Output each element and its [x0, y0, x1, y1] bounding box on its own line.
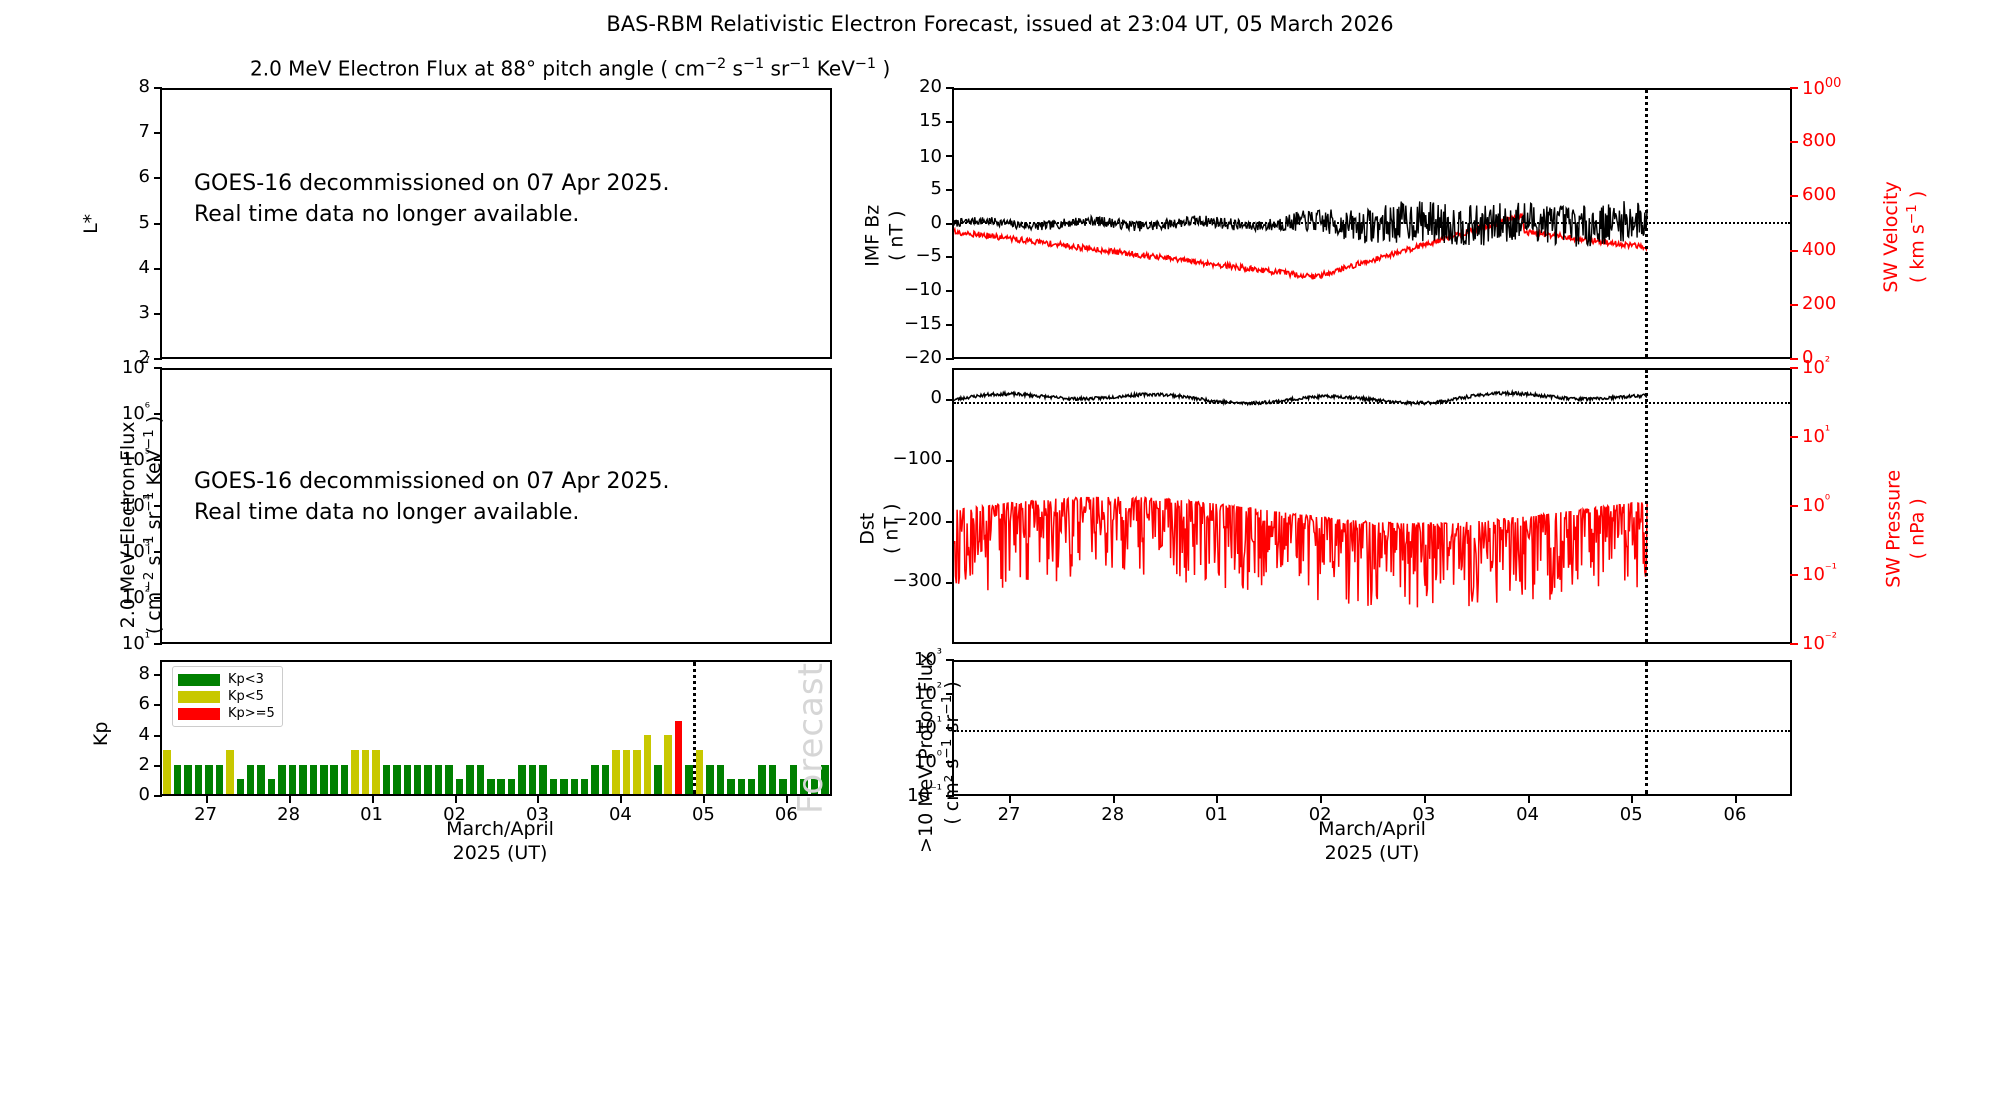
axis-tick-label: 20 [919, 76, 942, 97]
kp-bar [216, 765, 224, 794]
proton-x-label-line2: 2025 (UT) [1325, 842, 1420, 864]
axis-tick [946, 290, 954, 292]
kp-x-axis-label: March/April2025 (UT) [340, 818, 660, 866]
kp-legend-item: Kp>=5 [178, 705, 275, 722]
axis-tick [1790, 358, 1798, 360]
kp-bar [675, 721, 683, 794]
axis-tick [1790, 505, 1798, 507]
panel-lstar-plot-area: GOES-16 decommissioned on 07 Apr 2025.Re… [162, 90, 830, 357]
axis-tick [703, 795, 705, 803]
kp-legend-item: Kp<5 [178, 688, 275, 705]
kp-bar [477, 765, 485, 794]
axis-tick [455, 795, 457, 803]
sw-velocity-y-axis-label: SW Velocity( km s−1 ) [1880, 137, 1930, 337]
kp-bar [602, 765, 610, 794]
axis-tick-label: 800 [1802, 130, 1836, 151]
kp-bar [278, 765, 286, 794]
axis-tick [946, 256, 954, 258]
axis-tick-label: 5 [931, 178, 942, 199]
kp-bar [685, 765, 693, 794]
axis-tick [946, 521, 954, 523]
axis-tick [946, 121, 954, 123]
proton-threshold-line [954, 730, 1790, 732]
kp-legend-label: Kp<5 [228, 689, 264, 704]
dst-forecast-divider [1645, 370, 1648, 642]
kp-bar [237, 779, 245, 794]
panel-dst-sw-pressure [952, 368, 1792, 644]
dst-y-axis-label: Dst( nT ) [856, 439, 904, 619]
kp-bar [330, 765, 338, 794]
subtitle-mid: pitch angle ( cm [536, 57, 705, 81]
kp-bar [435, 765, 443, 794]
axis-tick [946, 155, 954, 157]
axis-tick-label: 05 [1620, 804, 1643, 825]
axis-tick [154, 177, 162, 179]
axis-tick [946, 189, 954, 191]
kp-bar [633, 750, 641, 794]
axis-tick [1790, 304, 1798, 306]
kp-bar [424, 765, 432, 794]
proton-flux-y-axis-label: >10 MeV Proton Flux( cm² s−1 sr−1 ) [915, 603, 965, 903]
axis-tick-label: 200 [1802, 293, 1836, 314]
kp-bar [612, 750, 620, 794]
axis-tick [946, 223, 954, 225]
kp-bar [696, 750, 704, 794]
kp-bar [404, 765, 412, 794]
kp-bar [623, 750, 631, 794]
kp-bar [174, 765, 182, 794]
axis-tick [1790, 250, 1798, 252]
flux-decommission-message: GOES-16 decommissioned on 07 Apr 2025.Re… [194, 466, 670, 528]
kp-bar [163, 750, 171, 794]
kp-bar [644, 735, 652, 794]
axis-tick [1735, 795, 1737, 803]
proton-y-label-line1: >10 MeV Proton Flux [915, 653, 937, 853]
axis-tick-label: 27 [194, 804, 217, 825]
page-title: BAS-RBM Relativistic Electron Forecast, … [0, 12, 2000, 36]
kp-bar [289, 765, 297, 794]
axis-tick [154, 268, 162, 270]
axis-tick [154, 704, 162, 706]
subtitle-kev: KeV [810, 57, 854, 81]
axis-tick [154, 132, 162, 134]
lstar-decommission-message: GOES-16 decommissioned on 07 Apr 2025.Re… [194, 168, 670, 230]
axis-tick-label: 28 [277, 804, 300, 825]
axis-tick [1113, 795, 1115, 803]
subtitle-sr: sr [764, 57, 789, 81]
imf-zero-line [954, 222, 1790, 224]
kp-bar [414, 765, 422, 794]
kp-legend-label: Kp<3 [228, 672, 264, 687]
axis-tick [154, 223, 162, 225]
kp-bar [654, 765, 662, 794]
axis-tick-label: 10 [919, 144, 942, 167]
kp-bar [664, 735, 672, 794]
lstar-decommission-line1: GOES-16 decommissioned on 07 Apr 2025. [194, 171, 670, 196]
axis-tick [154, 735, 162, 737]
lstar-y-axis-label: L* [80, 194, 104, 254]
axis-tick-label: 0 [931, 212, 942, 233]
axis-tick [1790, 141, 1798, 143]
kp-bar [487, 779, 495, 794]
sw-pressure-y-axis-label: SW Pressure( nPa ) [1882, 429, 1930, 629]
kp-bar [257, 765, 265, 794]
subtitle-exp-1: −2 [705, 56, 726, 72]
kp-bar [383, 765, 391, 794]
axis-tick [946, 87, 954, 89]
axis-tick-label: 7 [139, 121, 150, 142]
axis-tick-label: 4 [139, 257, 150, 278]
kp-bar [539, 765, 547, 794]
kp-bar [226, 750, 234, 794]
axis-tick [1424, 795, 1426, 803]
flux-map-subtitle: 2.0 MeV Electron Flux at 88° pitch angle… [250, 56, 890, 81]
axis-tick-label: 6 [139, 693, 150, 714]
axis-tick [1790, 87, 1798, 89]
kp-bar [738, 779, 746, 794]
flux-decommission-line2: Real time data no longer available. [194, 500, 579, 525]
axis-tick-label: 05 [692, 804, 715, 825]
kp-legend-label: Kp>=5 [228, 706, 275, 721]
subtitle-prefix: 2.0 MeV Electron Flux at 88 [250, 57, 526, 81]
imf-plot-area [954, 90, 1790, 357]
axis-tick [154, 674, 162, 676]
axis-tick-label: 1000 [1802, 76, 1841, 99]
axis-tick-label: 6 [139, 166, 150, 187]
proton-forecast-divider [1645, 662, 1648, 794]
dst-plot-area [954, 370, 1790, 642]
degree-symbol: ° [526, 57, 536, 81]
forecast-watermark: Forecast [791, 662, 831, 814]
axis-tick [946, 582, 954, 584]
axis-tick [1009, 795, 1011, 803]
axis-tick-label: −10 [904, 279, 942, 300]
kp-x-label-line1: March/April [446, 818, 554, 840]
electron-flux-plot-area: GOES-16 decommissioned on 07 Apr 2025.Re… [162, 370, 830, 642]
flux-decommission-line1: GOES-16 decommissioned on 07 Apr 2025. [194, 469, 670, 494]
kp-bar [195, 765, 203, 794]
axis-tick [154, 358, 162, 360]
kp-bar [351, 750, 359, 794]
axis-tick [1790, 574, 1798, 576]
axis-tick [537, 795, 539, 803]
axis-tick-label: −20 [904, 347, 942, 368]
subtitle-exp-2: −1 [743, 56, 764, 72]
axis-tick-label: 10¹ [1802, 424, 1830, 447]
axis-tick-label: 3 [139, 302, 150, 323]
axis-tick [946, 324, 954, 326]
kp-bar [591, 765, 599, 794]
axis-tick-label: 10² [1802, 355, 1830, 378]
axis-tick-label: 15 [919, 110, 942, 131]
kp-legend-swatch [178, 691, 220, 703]
axis-tick-label: 400 [1802, 239, 1836, 260]
axis-tick-label: −15 [904, 313, 942, 334]
kp-bar [456, 779, 464, 794]
subtitle-exp-3: −1 [789, 56, 810, 72]
subtitle-s: s [726, 57, 743, 81]
axis-tick [786, 795, 788, 803]
kp-legend-swatch [178, 708, 220, 720]
kp-bar [581, 779, 589, 794]
kp-bar [518, 765, 526, 794]
kp-bar [299, 765, 307, 794]
electron-flux-y-axis-label: 2.0 MeV Electron Flux( cm−2 s−1 sr−1 KeV… [117, 375, 167, 675]
forecast-dashboard: BAS-RBM Relativistic Electron Forecast, … [0, 0, 2000, 1100]
kp-bar [769, 765, 777, 794]
imf-forecast-divider [1645, 90, 1648, 357]
kp-bar [362, 750, 370, 794]
axis-tick [154, 313, 162, 315]
kp-bar [497, 779, 505, 794]
kp-bar [205, 765, 213, 794]
axis-tick [154, 87, 162, 89]
axis-tick [946, 460, 954, 462]
axis-tick [154, 367, 162, 369]
axis-tick [372, 795, 374, 803]
imf-bz-y-axis-label: IMF Bz( nT ) [861, 146, 909, 326]
proton-x-axis-label: March/April2025 (UT) [1212, 818, 1532, 866]
kp-bar [748, 779, 756, 794]
axis-tick-label: 8 [139, 76, 150, 97]
axis-tick [1528, 795, 1530, 803]
axis-tick-label: 10⁻² [1802, 631, 1837, 654]
kp-legend-item: Kp<3 [178, 671, 275, 688]
axis-tick [206, 795, 208, 803]
kp-bar [445, 765, 453, 794]
axis-tick-label: 8 [139, 663, 150, 684]
axis-tick [620, 795, 622, 803]
proton-y-label-line2: ( cm² s−1 sr−1 ) [941, 681, 963, 824]
kp-legend: Kp<3Kp<5Kp>=5 [172, 666, 283, 727]
kp-forecast-divider [693, 662, 696, 794]
kp-bar [393, 765, 401, 794]
axis-tick-label: 28 [1101, 804, 1124, 825]
kp-bar [717, 765, 725, 794]
axis-tick-label: −5 [915, 245, 942, 266]
panel-lstar-flux-map: GOES-16 decommissioned on 07 Apr 2025.Re… [160, 88, 832, 359]
axis-tick [946, 399, 954, 401]
kp-bar [571, 779, 579, 794]
lstar-decommission-line2: Real time data no longer available. [194, 202, 579, 227]
kp-bar [529, 765, 537, 794]
kp-bar [706, 765, 714, 794]
axis-tick [154, 765, 162, 767]
subtitle-exp-4: −1 [855, 56, 876, 72]
axis-tick-label: 600 [1802, 184, 1836, 205]
axis-tick-label: 0 [139, 784, 150, 805]
kp-bar [184, 765, 192, 794]
kp-bar [560, 779, 568, 794]
axis-tick-label: 2 [139, 754, 150, 775]
kp-bar [372, 750, 380, 794]
kp-bar [268, 779, 276, 794]
axis-tick [1790, 367, 1798, 369]
subtitle-close: ) [876, 57, 890, 81]
kp-bar [466, 765, 474, 794]
proton-x-label-line1: March/April [1318, 818, 1426, 840]
axis-tick [289, 795, 291, 803]
kp-bar [550, 779, 558, 794]
kp-bar [727, 779, 735, 794]
kp-bar [310, 765, 318, 794]
panel-proton-flux [952, 660, 1792, 796]
kp-bar [341, 765, 349, 794]
axis-tick-label: 06 [1724, 804, 1747, 825]
dst-zero-line [954, 402, 1790, 404]
sw-pressure-trace [954, 497, 1647, 608]
axis-tick [1790, 643, 1798, 645]
axis-tick [1790, 436, 1798, 438]
kp-bar [758, 765, 766, 794]
kp-bar [320, 765, 328, 794]
axis-tick [1790, 195, 1798, 197]
axis-tick-label: 4 [139, 724, 150, 745]
axis-tick-label: 27 [998, 804, 1021, 825]
dst-sw-pressure-traces [954, 370, 1790, 642]
kp-y-axis-label: Kp [90, 704, 114, 764]
electron-flux-y-label-line2: ( cm−2 s−1 sr−1 KeV−1 ) [143, 416, 165, 634]
kp-bar [779, 779, 787, 794]
proton-plot-area [954, 662, 1790, 794]
axis-tick-label: 10⁰ [1802, 493, 1830, 516]
axis-tick-label: 5 [139, 212, 150, 233]
panel-electron-flux: GOES-16 decommissioned on 07 Apr 2025.Re… [160, 368, 832, 644]
axis-tick [154, 795, 162, 797]
axis-tick-label: 0 [931, 387, 942, 408]
kp-bar [247, 765, 255, 794]
axis-tick [1216, 795, 1218, 803]
kp-bar [508, 779, 516, 794]
axis-tick [946, 358, 954, 360]
electron-flux-y-label-line1: 2.0 MeV Electron Flux [117, 421, 139, 628]
axis-tick [1320, 795, 1322, 803]
kp-legend-swatch [178, 674, 220, 686]
panel-imf-bz-sw-velocity [952, 88, 1792, 359]
axis-tick-label: 10⁻¹ [1802, 562, 1837, 585]
kp-x-label-line2: 2025 (UT) [453, 842, 548, 864]
axis-tick [1631, 795, 1633, 803]
